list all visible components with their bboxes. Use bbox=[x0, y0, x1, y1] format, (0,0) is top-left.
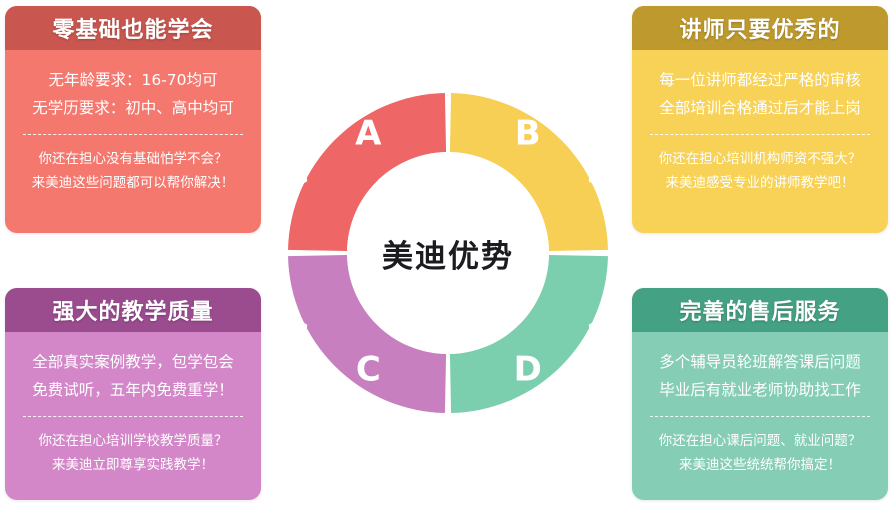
donut-label-d: D bbox=[514, 350, 542, 390]
card-sub-line: 你还在担心没有基础怕学不会？ bbox=[15, 147, 251, 171]
card-line: 每一位讲师都经过严格的审核 bbox=[642, 66, 878, 94]
card-body-teaching-quality: 全部真实案例教学，包学包会 免费试听，五年内免费重学！ 你还在担心培训学校教学质… bbox=[5, 332, 261, 493]
card-header-after-sales-service: 完善的售后服务 bbox=[632, 288, 888, 332]
card-sub-line: 你还在担心培训机构师资不强大？ bbox=[642, 147, 878, 171]
card-line: 无学历要求：初中、高中均可 bbox=[15, 94, 251, 122]
card-line: 免费试听，五年内免费重学！ bbox=[15, 376, 251, 404]
card-title-after-sales-service: 完善的售后服务 bbox=[679, 294, 840, 326]
card-body-after-sales-service: 多个辅导员轮班解答课后问题 毕业后有就业老师协助找工作 你还在担心课后问题、就业… bbox=[632, 332, 888, 493]
donut-label-a: A bbox=[355, 113, 382, 153]
card-body-zero-basics: 无年龄要求：16-70均可 无学历要求：初中、高中均可 你还在担心没有基础怕学不… bbox=[5, 50, 261, 211]
card-divider bbox=[23, 416, 243, 417]
card-line: 多个辅导员轮班解答课后问题 bbox=[642, 348, 878, 376]
card-sub-line: 你还在担心课后问题、就业问题？ bbox=[642, 429, 878, 453]
card-sub-line: 来美迪这些统统帮你搞定！ bbox=[642, 453, 878, 477]
card-header-teaching-quality: 强大的教学质量 bbox=[5, 288, 261, 332]
card-sub-line: 来美迪感受专业的讲师教学吧！ bbox=[642, 171, 878, 195]
donut-chart: ABCD 美迪优势 bbox=[288, 93, 608, 413]
card-sub-line: 来美迪这些问题都可以帮你解决！ bbox=[15, 171, 251, 195]
card-line: 毕业后有就业老师协助找工作 bbox=[642, 376, 878, 404]
donut-svg: ABCD bbox=[288, 93, 608, 413]
card-teaching-quality[interactable]: 强大的教学质量 全部真实案例教学，包学包会 免费试听，五年内免费重学！ 你还在担… bbox=[5, 288, 261, 500]
card-sub-line: 你还在担心培训学校教学质量？ bbox=[15, 429, 251, 453]
card-title-teaching-quality: 强大的教学质量 bbox=[52, 294, 213, 326]
card-sub-line: 来美迪立即尊享实践教学！ bbox=[15, 453, 251, 477]
card-divider bbox=[650, 416, 870, 417]
card-header-excellent-instructors: 讲师只要优秀的 bbox=[632, 6, 888, 50]
donut-label-b: B bbox=[515, 113, 541, 153]
card-divider bbox=[23, 134, 243, 135]
card-divider bbox=[650, 134, 870, 135]
card-zero-basics[interactable]: 零基础也能学会 无年龄要求：16-70均可 无学历要求：初中、高中均可 你还在担… bbox=[5, 6, 261, 233]
card-line: 无年龄要求：16-70均可 bbox=[15, 66, 251, 94]
card-title-excellent-instructors: 讲师只要优秀的 bbox=[679, 12, 840, 44]
card-line: 全部培训合格通过后才能上岗 bbox=[642, 94, 878, 122]
card-body-excellent-instructors: 每一位讲师都经过严格的审核 全部培训合格通过后才能上岗 你还在担心培训机构师资不… bbox=[632, 50, 888, 211]
donut-inner-circle bbox=[347, 152, 549, 354]
card-line: 全部真实案例教学，包学包会 bbox=[15, 348, 251, 376]
donut-label-c: C bbox=[356, 350, 381, 390]
card-after-sales-service[interactable]: 完善的售后服务 多个辅导员轮班解答课后问题 毕业后有就业老师协助找工作 你还在担… bbox=[632, 288, 888, 500]
card-header-zero-basics: 零基础也能学会 bbox=[5, 6, 261, 50]
card-title-zero-basics: 零基础也能学会 bbox=[52, 12, 213, 44]
card-excellent-instructors[interactable]: 讲师只要优秀的 每一位讲师都经过严格的审核 全部培训合格通过后才能上岗 你还在担… bbox=[632, 6, 888, 233]
